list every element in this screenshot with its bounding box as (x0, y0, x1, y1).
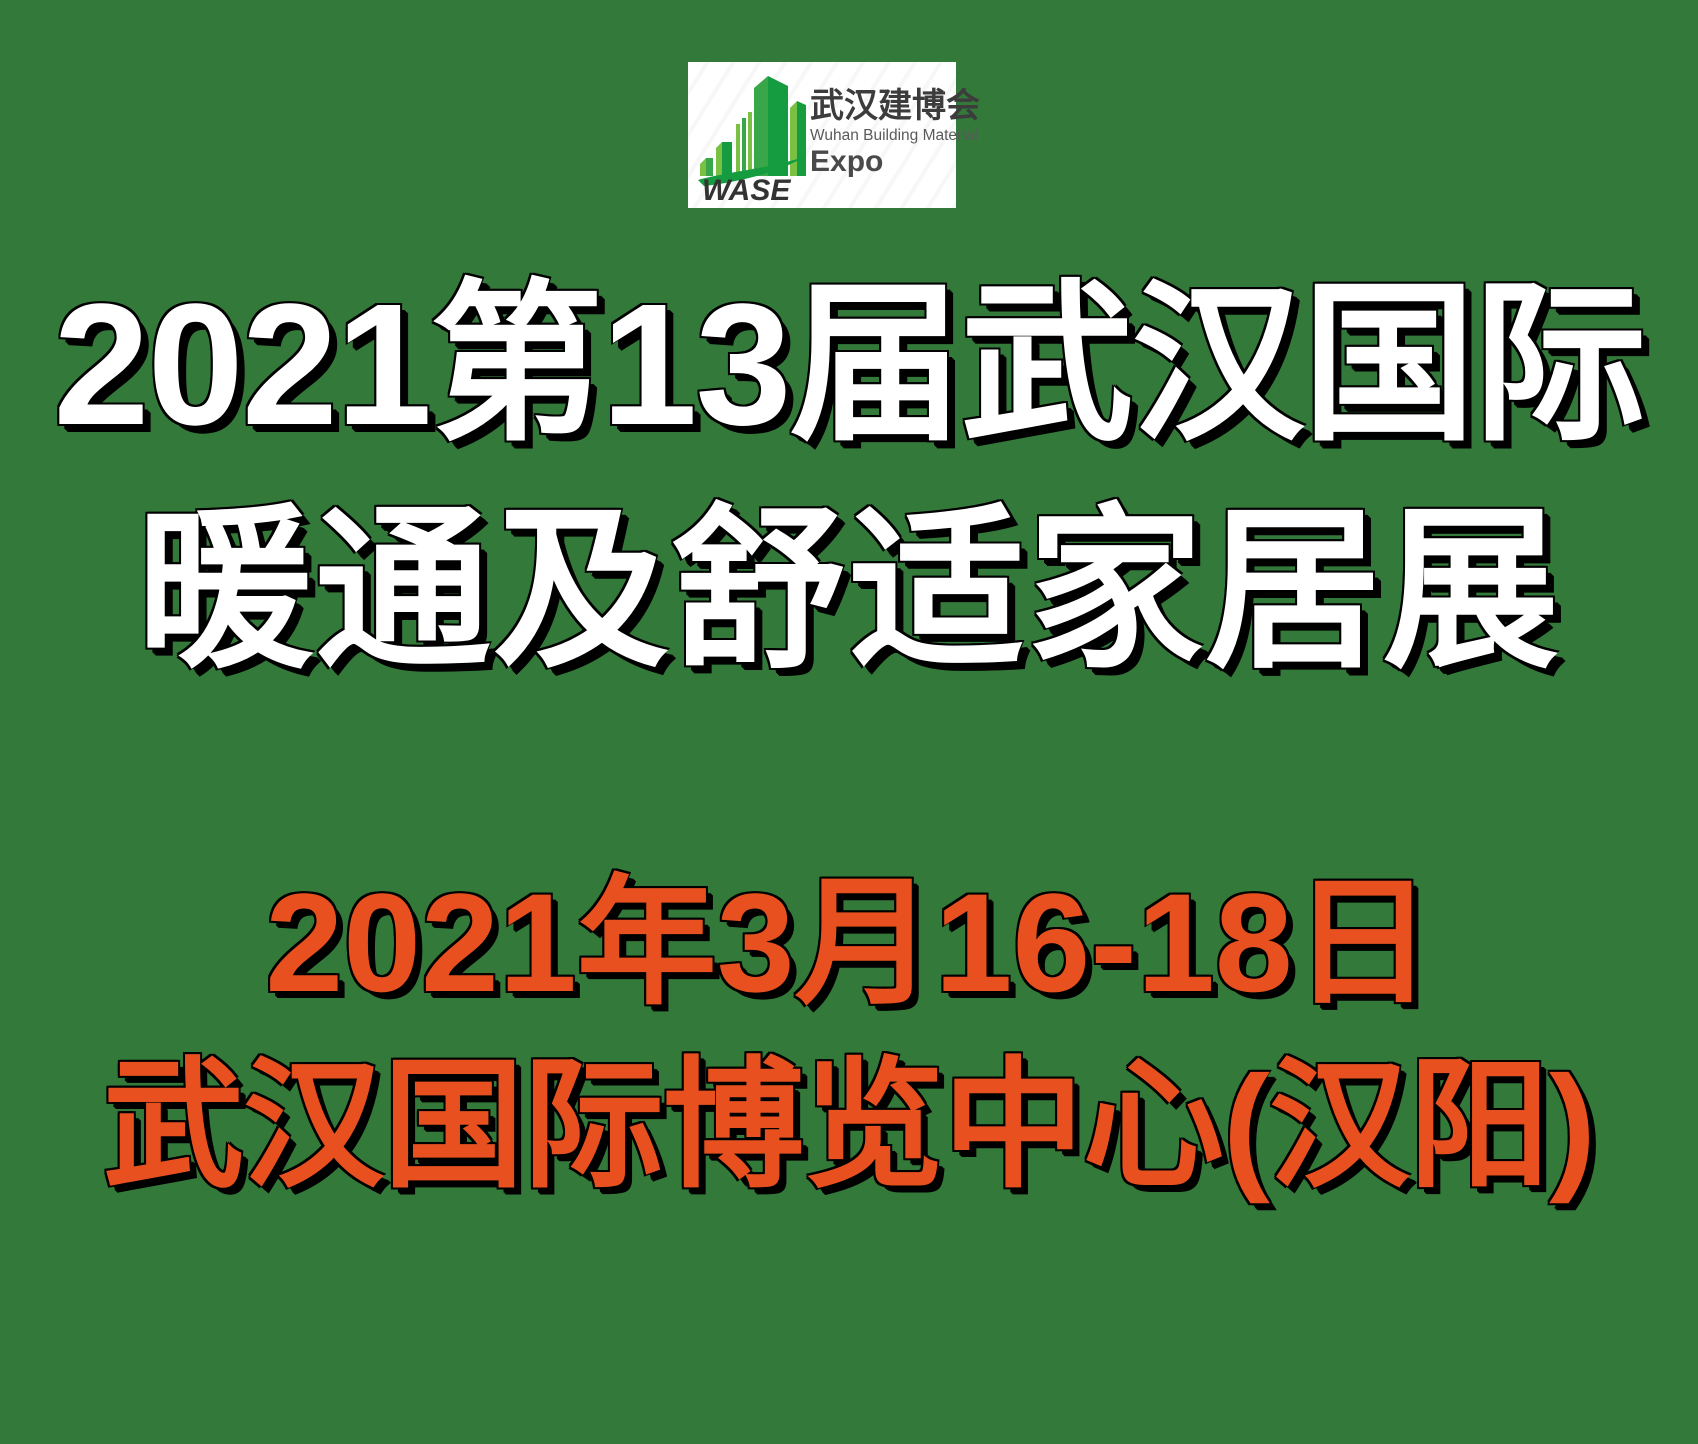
logo-text-block: 武汉建博会 Wuhan Building Material Expo (808, 89, 980, 181)
event-date: 2021年3月16-18日 (0, 852, 1698, 1034)
headline-line-2: 暖通及舒适家居展 (0, 477, 1698, 706)
exhibition-poster: WASE 武汉建博会 Wuhan Building Material Expo … (0, 0, 1698, 1444)
wase-wordmark: WASE (702, 174, 791, 202)
logo-title-cn: 武汉建博会 (810, 89, 980, 123)
event-logo-badge: WASE 武汉建博会 Wuhan Building Material Expo (688, 62, 956, 208)
logo-subtitle-en: Wuhan Building Material (810, 128, 980, 144)
headline-block: 2021第13届武汉国际 暖通及舒适家居展 (0, 252, 1698, 706)
event-info-block: 2021年3月16-18日 武汉国际博览中心(汉阳) (0, 852, 1698, 1217)
wase-building-skyline-logo: WASE (696, 68, 808, 202)
logo-expo-label: Expo (810, 147, 980, 177)
event-venue: 武汉国际博览中心(汉阳) (0, 1034, 1698, 1217)
headline-line-1: 2021第13届武汉国际 (0, 252, 1698, 477)
